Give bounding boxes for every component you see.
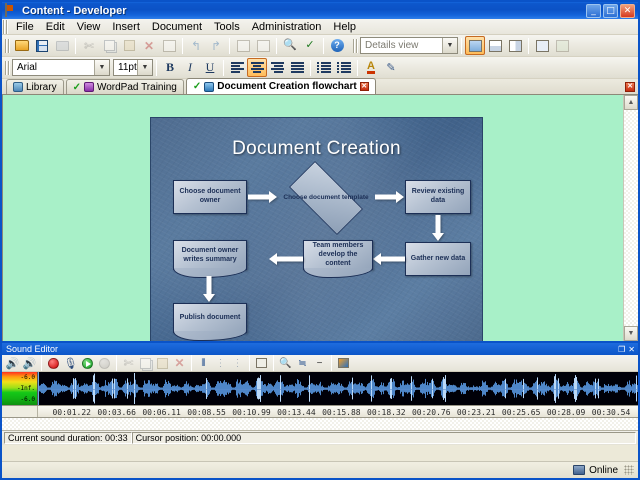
chevron-down-icon[interactable]: ▼ [442, 38, 457, 53]
tab-label: WordPad Training [97, 82, 177, 93]
format-toolbar: Arial ▼ 11pt ▼ B I U A ✎ [2, 57, 638, 79]
maximize-button[interactable]: □ [603, 4, 618, 18]
toolbar-separator [223, 60, 224, 76]
document-vertical-scrollbar[interactable]: ▲ ▼ [623, 95, 638, 341]
wordpad-icon [84, 82, 94, 92]
ruler-tick: 00:15.88 [322, 406, 361, 419]
ruler-tick: 00:01.22 [52, 406, 91, 419]
zoom-icon[interactable]: 🔍 [277, 356, 294, 371]
ruler-tick: 00:03.66 [97, 406, 136, 419]
ruler-spacer [2, 406, 38, 417]
toolbar-separator [331, 355, 332, 371]
font-size-value: 11pt [118, 62, 137, 73]
ruler-tick: 00:20.76 [412, 406, 451, 419]
flowchart-slide[interactable]: Document Creation Choose document owner … [150, 117, 483, 341]
view-toolbar-grip[interactable] [353, 39, 358, 53]
toolbar-separator [229, 38, 230, 54]
cut-icon[interactable]: ✄ [120, 356, 137, 371]
record-icon[interactable] [45, 356, 62, 371]
flowchart-title: Document Creation [151, 138, 482, 160]
online-status-label: Online [589, 465, 618, 476]
flowchart-arrow-n4-n5 [373, 242, 405, 276]
delete-icon[interactable]: ✕ [139, 36, 159, 55]
node-label: Publish document [180, 314, 241, 323]
font-color-icon[interactable]: A [361, 58, 381, 77]
resize-grip[interactable] [624, 465, 634, 475]
align-justify-icon[interactable] [287, 58, 307, 77]
properties-icon[interactable] [159, 36, 179, 55]
menu-view[interactable]: View [71, 20, 107, 34]
toolbar-separator [323, 38, 324, 54]
flowchart-arrow-n1-n2 [248, 180, 277, 214]
stop-icon[interactable] [96, 356, 113, 371]
redo-icon[interactable]: ↱ [206, 36, 226, 55]
tab-label: Document Creation flowchart [217, 81, 356, 92]
menu-grip[interactable] [3, 20, 8, 34]
find-icon[interactable]: 🔍 [280, 36, 300, 55]
close-button[interactable]: ✕ [620, 4, 635, 18]
print-icon[interactable] [52, 36, 72, 55]
spellcheck-icon[interactable]: ✓ [300, 36, 320, 55]
numbered-list-icon[interactable] [334, 58, 354, 77]
font-size-select[interactable]: 11pt ▼ [113, 59, 153, 76]
flowchart-node-team-members-develop-content[interactable]: Team members develop the content [303, 240, 373, 270]
check-icon: ✓ [193, 81, 201, 92]
sound-editor-close-icon[interactable]: ✕ [628, 345, 635, 354]
sound-horizontal-scrollbar[interactable] [2, 418, 638, 431]
ruler-tick: 00:06.11 [142, 406, 181, 419]
library-icon [13, 82, 23, 92]
sound-editor-toolbar: 🔊 🔊 🎙 ✄ ✕ ⦀ ⋮ ⋮ 🔍 ≒ − [2, 355, 638, 372]
toolbar-grip[interactable] [5, 39, 10, 53]
menu-help[interactable]: Help [327, 20, 362, 34]
ruler-tick: 00:10.99 [232, 406, 271, 419]
minus-icon[interactable]: − [311, 356, 328, 371]
sound-editor-restore-icon[interactable]: ❐ [618, 345, 625, 354]
check-icon: ✓ [73, 82, 81, 93]
move-up-icon[interactable] [233, 36, 253, 55]
document-canvas[interactable]: Document Creation Choose document owner … [3, 95, 623, 341]
waveform-display[interactable] [38, 372, 638, 405]
node-label: Team members develop the content [306, 242, 370, 268]
effects-icon[interactable] [335, 356, 352, 371]
toolbar-separator [75, 38, 76, 54]
format-toolbar-grip[interactable] [5, 61, 10, 75]
tab-strip: Library ✓ WordPad Training ✓ Document Cr… [2, 79, 638, 95]
toolbar-separator [461, 38, 462, 54]
flowchart-node-document-owner-writes-summary[interactable]: Document owner writes summary [173, 240, 247, 270]
node-label: Choose document owner [176, 188, 244, 206]
mix-icon[interactable]: ⦀ [195, 356, 212, 371]
playhead[interactable] [38, 372, 39, 405]
scroll-down-icon[interactable]: ▼ [624, 326, 638, 341]
view-mode-select[interactable]: Details view ▼ [360, 37, 458, 54]
align-center-icon[interactable] [247, 58, 267, 77]
sound-editor-filler [2, 445, 638, 461]
ruler-tick: 00:08.55 [187, 406, 226, 419]
cursor-position-label: Cursor position: 00:00.000 [132, 432, 636, 444]
open-icon[interactable] [12, 36, 32, 55]
sound-editor-title-bar: Sound Editor ❐ ✕ [2, 343, 638, 355]
tab-wordpad-training[interactable]: ✓ WordPad Training [66, 79, 184, 94]
window-title: Content - Developer [22, 5, 586, 17]
toolbar-separator [191, 355, 192, 371]
ruler-tick: 00:30.54 [592, 406, 631, 419]
paste-icon[interactable] [154, 356, 171, 371]
node-label: Review existing data [408, 188, 468, 206]
levels-icon[interactable]: ≒ [294, 356, 311, 371]
underline-button[interactable]: U [200, 58, 220, 77]
vu-label-top: -6.0 [21, 375, 35, 381]
undo-icon[interactable]: ↰ [186, 36, 206, 55]
window-controls: _ □ ✕ [586, 4, 635, 18]
flowchart-arrow-n6-n7 [199, 276, 219, 302]
tab-document-creation-flowchart[interactable]: ✓ Document Creation flowchart ✕ [186, 78, 376, 94]
font-family-select[interactable]: Arial ▼ [12, 59, 110, 76]
ruler-ticks: 00:01.2200:03.6600:06.1100:08.5500:10.99… [38, 406, 638, 417]
flowchart-node-review-existing-data[interactable]: Review existing data [405, 180, 471, 214]
menu-insert[interactable]: Insert [106, 20, 146, 34]
node-label: Document owner writes summary [176, 247, 244, 265]
sound-editor-panel: Sound Editor ❐ ✕ 🔊 🔊 🎙 ✄ ✕ ⦀ ⋮ ⋮ [2, 341, 638, 461]
menu-file[interactable]: File [10, 20, 40, 34]
toolbar-separator [357, 60, 358, 76]
highlight-icon[interactable]: ✎ [381, 58, 401, 77]
scrollbar-track[interactable] [624, 110, 638, 326]
view-mode-value: Details view [365, 40, 418, 51]
tab-library[interactable]: Library [6, 79, 64, 94]
chevron-down-icon[interactable]: ▼ [137, 60, 152, 75]
menu-document[interactable]: Document [146, 20, 208, 34]
paste-icon[interactable] [119, 36, 139, 55]
application-status-bar: Online [2, 461, 638, 478]
insert-sound-icon[interactable]: 🔊 [4, 356, 21, 371]
menu-administration[interactable]: Administration [246, 20, 328, 34]
main-toolbar: ✄ ✕ ↰ ↱ 🔍 ✓ ? Details view ▼ [2, 35, 638, 57]
ruler-tick: 00:13.44 [277, 406, 316, 419]
application-window: Content - Developer _ □ ✕ File Edit View… [0, 0, 640, 480]
minimize-button[interactable]: _ [586, 4, 601, 18]
toolbar-separator [116, 355, 117, 371]
chevron-down-icon[interactable]: ▼ [94, 60, 109, 75]
sound-editor-window-controls: ❐ ✕ [618, 345, 635, 354]
title-bar: Content - Developer _ □ ✕ [2, 2, 638, 19]
sound-editor-title: Sound Editor [6, 344, 58, 354]
close-document-button[interactable]: ✕ [625, 82, 635, 92]
align-right-icon[interactable] [267, 58, 287, 77]
vu-meter: -6.0 -Inf. -6.0 [2, 372, 38, 405]
document-icon [204, 82, 214, 92]
node-label: Choose document template [283, 194, 368, 202]
details-view-icon[interactable] [465, 36, 485, 55]
help-icon[interactable]: ? [327, 36, 347, 55]
play-icon[interactable] [79, 356, 96, 371]
application-icon [5, 4, 18, 17]
tab-label: Library [26, 82, 57, 93]
toolbar-separator [310, 60, 311, 76]
waveform-midline [38, 389, 638, 390]
font-family-value: Arial [17, 62, 37, 73]
ruler-tick: 00:18.32 [367, 406, 406, 419]
properties-window-icon[interactable] [532, 36, 552, 55]
document-area: Document Creation Choose document owner … [2, 95, 638, 341]
toolbar-separator [276, 38, 277, 54]
scroll-up-icon[interactable]: ▲ [624, 95, 638, 110]
vu-label-mid: -Inf. [17, 386, 35, 392]
flowchart-node-gather-new-data[interactable]: Gather new data [405, 242, 471, 276]
flowchart-arrow-n5-n6 [269, 242, 303, 276]
cut-icon[interactable]: ✄ [79, 36, 99, 55]
bold-button[interactable]: B [160, 58, 180, 77]
menu-tools[interactable]: Tools [208, 20, 246, 34]
menu-bar: File Edit View Insert Document Tools Adm… [2, 19, 638, 35]
toolbar-separator [41, 355, 42, 371]
tab-close-icon[interactable]: ✕ [360, 82, 369, 91]
align-left-icon[interactable] [227, 58, 247, 77]
split-vertical-icon[interactable] [505, 36, 525, 55]
sound-editor-status-bar: Current sound duration: 00:33 Cursor pos… [2, 431, 638, 445]
toolbar-separator [273, 355, 274, 371]
node-label: Gather new data [411, 255, 465, 264]
save-icon[interactable] [32, 36, 52, 55]
flowchart-node-publish-document[interactable]: Publish document [173, 303, 247, 333]
menu-edit[interactable]: Edit [40, 20, 71, 34]
marker-add-icon[interactable]: ⋮ [229, 356, 246, 371]
network-icon [573, 465, 585, 475]
flowchart-arrow-n3-n4 [428, 215, 448, 241]
markers-icon[interactable]: ⋮ [212, 356, 229, 371]
ruler-tick: 00:25.65 [502, 406, 541, 419]
timeline-ruler[interactable]: 00:01.2200:03.6600:06.1100:08.5500:10.99… [2, 405, 638, 418]
ruler-tick: 00:28.09 [547, 406, 586, 419]
bullet-list-icon[interactable] [314, 58, 334, 77]
move-down-icon[interactable] [253, 36, 273, 55]
toolbar-separator [156, 60, 157, 76]
toolbar-separator [182, 38, 183, 54]
split-horizontal-icon[interactable] [485, 36, 505, 55]
italic-button[interactable]: I [180, 58, 200, 77]
toolbar-separator [528, 38, 529, 54]
vu-label-bottom: -6.0 [21, 397, 35, 403]
flowchart-node-choose-document-owner[interactable]: Choose document owner [173, 180, 247, 214]
ruler-tick: 00:23.21 [457, 406, 496, 419]
record-settings-icon[interactable]: 🎙 [62, 356, 79, 371]
flowchart-node-choose-document-template[interactable]: Choose document template [278, 172, 374, 224]
toolbar-separator [249, 355, 250, 371]
sound-duration-label: Current sound duration: 00:33 [4, 432, 132, 444]
delete-icon[interactable]: ✕ [171, 356, 188, 371]
copy-icon[interactable] [99, 36, 119, 55]
waveform-row: -6.0 -Inf. -6.0 [2, 372, 638, 405]
refresh-icon[interactable] [552, 36, 572, 55]
flowchart-arrow-n2-n3 [375, 180, 404, 214]
copy-icon[interactable] [137, 356, 154, 371]
select-all-icon[interactable] [253, 356, 270, 371]
append-sound-icon[interactable]: 🔊 [21, 356, 38, 371]
